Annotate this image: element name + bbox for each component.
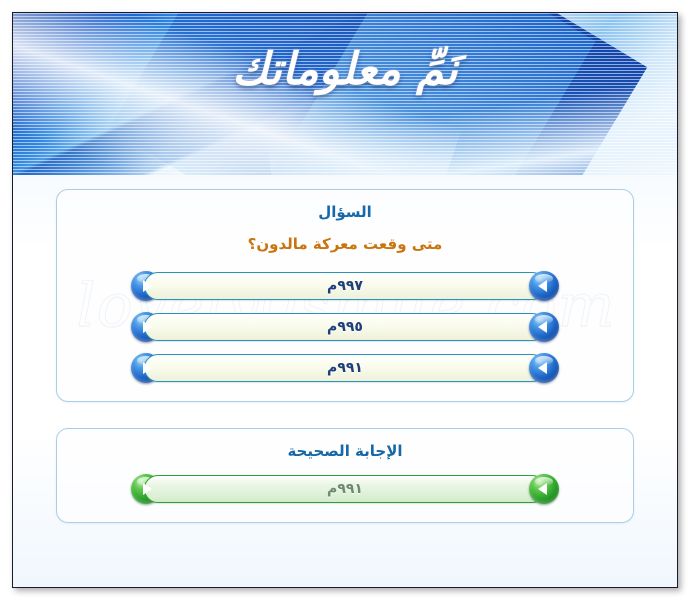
option-label: ٩٩١م (327, 360, 363, 376)
option-row[interactable]: ٩٩١م (131, 353, 559, 383)
answer-panel: الإجابة الصحيحة ٩٩١م (56, 428, 634, 523)
option-label: ٩٩٧م (327, 278, 363, 294)
triangle-left-icon (529, 474, 559, 504)
answer-label: ٩٩١م (327, 481, 363, 497)
app-frame: نَمِّ معلوماتك lovely0smile.com السؤال م… (12, 12, 678, 588)
option-row[interactable]: ٩٩٧م (131, 271, 559, 301)
triangle-left-glyph (538, 280, 547, 292)
triangle-left-glyph (538, 362, 547, 374)
triangle-left-icon (529, 312, 559, 342)
content-area: lovely0smile.com السؤال متى وقعت معركة م… (13, 175, 677, 588)
site-logo: نَمِّ معلوماتك (13, 37, 677, 103)
option-row[interactable]: ٩٩٥م (131, 312, 559, 342)
triangle-right-glyph (143, 280, 152, 292)
triangle-left-icon (529, 353, 559, 383)
triangle-left-icon (529, 271, 559, 301)
triangle-left-glyph (538, 483, 547, 495)
header-banner: نَمِّ معلوماتك (13, 13, 677, 175)
option-bar[interactable]: ٩٩١م (144, 354, 546, 382)
triangle-right-glyph (143, 483, 152, 495)
option-bar[interactable]: ٩٩٥م (144, 313, 546, 341)
answer-panel-title: الإجابة الصحيحة (71, 442, 619, 460)
page-root: نَمِّ معلوماتك lovely0smile.com السؤال م… (0, 0, 692, 602)
triangle-right-glyph (143, 321, 152, 333)
option-bar[interactable]: ٩٩٧م (144, 272, 546, 300)
answer-row[interactable]: ٩٩١م (131, 474, 559, 504)
question-panel: السؤال متى وقعت معركة مالدون؟ ٩٩٧م ٩٩٥م (56, 189, 634, 402)
question-text: متى وقعت معركة مالدون؟ (71, 235, 619, 253)
question-panel-title: السؤال (71, 203, 619, 221)
triangle-right-glyph (143, 362, 152, 374)
triangle-left-glyph (538, 321, 547, 333)
option-label: ٩٩٥م (327, 319, 363, 335)
answer-bar[interactable]: ٩٩١م (144, 475, 546, 503)
